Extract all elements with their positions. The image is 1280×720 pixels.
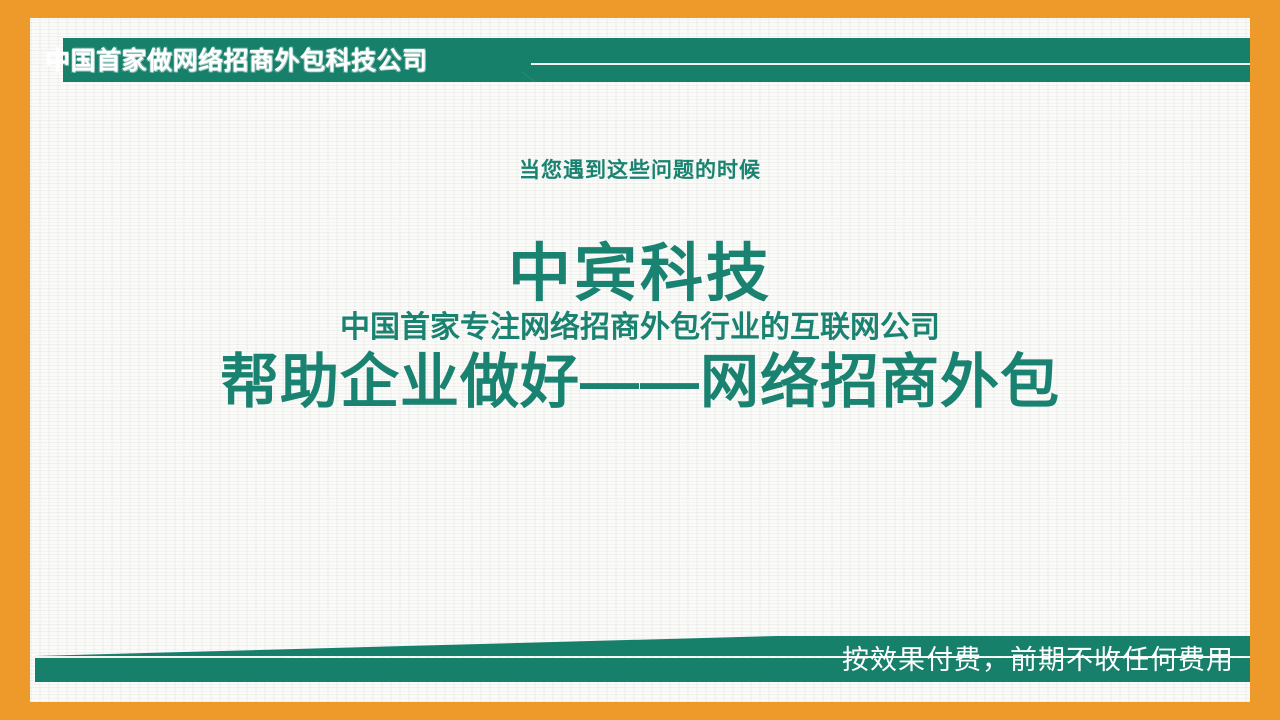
main-content: 当您遇到这些问题的时候 中宾科技 中国首家专注网络招商外包行业的互联网公司 帮助… xyxy=(30,158,1250,417)
headline-text: 帮助企业做好——网络招商外包 xyxy=(30,349,1250,417)
header-hairline xyxy=(531,63,1250,65)
header-title: 中国首家做网络招商外包科技公司 xyxy=(45,40,465,82)
slide-paper-panel: 中国首家做网络招商外包科技公司 当您遇到这些问题的时候 中宾科技 中国首家专注网… xyxy=(30,18,1250,702)
content-spacer xyxy=(30,183,1250,241)
eyebrow-text: 当您遇到这些问题的时候 xyxy=(30,158,1250,183)
header-band-slope xyxy=(513,65,1250,82)
footer-text: 按效果付费，前期不收任何费用 xyxy=(842,638,1234,682)
brand-name: 中宾科技 xyxy=(30,241,1250,307)
tagline-text: 中国首家专注网络招商外包行业的互联网公司 xyxy=(30,309,1250,347)
slide-root: 中国首家做网络招商外包科技公司 当您遇到这些问题的时候 中宾科技 中国首家专注网… xyxy=(0,0,1280,720)
footer-hairline xyxy=(35,656,285,658)
